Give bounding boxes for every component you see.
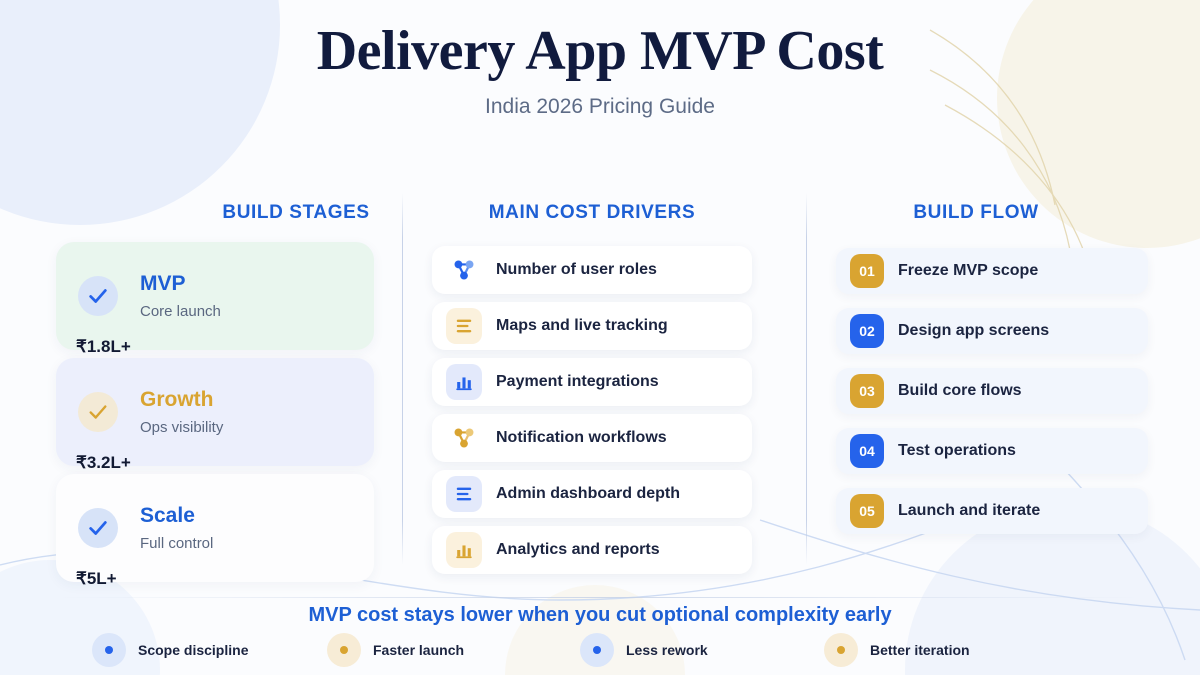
check-icon	[78, 392, 118, 432]
stage-subtitle: Full control	[140, 535, 213, 552]
page-header: Delivery App MVP Cost India 2026 Pricing…	[0, 22, 1200, 119]
flow-step-04[interactable]: 04 Test operations	[836, 428, 1148, 474]
network-nodes-icon	[446, 252, 482, 288]
page-subtitle: India 2026 Pricing Guide	[0, 95, 1200, 119]
driver-card-notification-workflows[interactable]: Notification workflows	[432, 414, 752, 462]
driver-label: Maps and live tracking	[496, 317, 668, 335]
stage-subtitle: Ops visibility	[140, 419, 223, 436]
flow-step-02[interactable]: 02 Design app screens	[836, 308, 1148, 354]
driver-label: Payment integrations	[496, 373, 659, 391]
step-number-badge: 04	[850, 434, 884, 468]
step-number-badge: 01	[850, 254, 884, 288]
stage-name: Scale	[140, 504, 213, 528]
network-nodes-icon	[446, 420, 482, 456]
bullet-dot-icon	[92, 633, 126, 667]
stage-card-growth[interactable]: Growth Ops visibility	[56, 358, 374, 466]
footer-pill-better-iteration: Better iteration	[824, 633, 970, 667]
driver-card-maps-tracking[interactable]: Maps and live tracking	[432, 302, 752, 350]
flow-step-label: Launch and iterate	[898, 502, 1040, 520]
bullet-dot-icon	[580, 633, 614, 667]
stage-price: ₹1.8L+	[76, 337, 131, 357]
column-heading-build-flow: BUILD FLOW	[836, 202, 1116, 224]
flow-step-label: Freeze MVP scope	[898, 262, 1038, 280]
stage-name: MVP	[140, 272, 221, 296]
driver-card-analytics-reports[interactable]: Analytics and reports	[432, 526, 752, 574]
footer-pill-label: Faster launch	[373, 642, 464, 658]
stage-subtitle: Core launch	[140, 303, 221, 320]
list-lines-icon	[446, 476, 482, 512]
stage-price: ₹5L+	[76, 569, 117, 589]
step-number-badge: 03	[850, 374, 884, 408]
driver-card-admin-dashboard[interactable]: Admin dashboard depth	[432, 470, 752, 518]
footer-pill-label: Less rework	[626, 642, 708, 658]
flow-step-label: Test operations	[898, 442, 1016, 460]
bar-chart-icon	[446, 364, 482, 400]
driver-label: Admin dashboard depth	[496, 485, 680, 503]
footer-divider	[56, 597, 1144, 598]
flow-step-03[interactable]: 03 Build core flows	[836, 368, 1148, 414]
stage-price: ₹3.2L+	[76, 453, 131, 473]
footer-pill-faster-launch: Faster launch	[327, 633, 464, 667]
footer-pill-less-rework: Less rework	[580, 633, 708, 667]
column-divider-left	[402, 193, 403, 565]
step-number-badge: 05	[850, 494, 884, 528]
bar-chart-icon	[446, 532, 482, 568]
bullet-dot-icon	[327, 633, 361, 667]
driver-card-payment-integrations[interactable]: Payment integrations	[432, 358, 752, 406]
flow-step-01[interactable]: 01 Freeze MVP scope	[836, 248, 1148, 294]
stage-card-scale[interactable]: Scale Full control	[56, 474, 374, 582]
check-icon	[78, 508, 118, 548]
driver-label: Notification workflows	[496, 429, 667, 447]
footer-pill-label: Better iteration	[870, 642, 970, 658]
stage-name: Growth	[140, 388, 223, 412]
footer-pill-label: Scope discipline	[138, 642, 248, 658]
check-icon	[78, 276, 118, 316]
bullet-dot-icon	[824, 633, 858, 667]
footer-tagline: MVP cost stays lower when you cut option…	[0, 604, 1200, 627]
flow-step-05[interactable]: 05 Launch and iterate	[836, 488, 1148, 534]
driver-label: Number of user roles	[496, 261, 657, 279]
footer-pill-scope-discipline: Scope discipline	[92, 633, 248, 667]
column-heading-main-cost-drivers: MAIN COST DRIVERS	[432, 202, 752, 224]
flow-step-label: Design app screens	[898, 322, 1049, 340]
column-divider-right	[806, 193, 807, 565]
driver-label: Analytics and reports	[496, 541, 660, 559]
list-lines-icon	[446, 308, 482, 344]
stage-card-mvp[interactable]: MVP Core launch	[56, 242, 374, 350]
flow-step-label: Build core flows	[898, 382, 1022, 400]
driver-card-user-roles[interactable]: Number of user roles	[432, 246, 752, 294]
page-title: Delivery App MVP Cost	[0, 22, 1200, 81]
step-number-badge: 02	[850, 314, 884, 348]
